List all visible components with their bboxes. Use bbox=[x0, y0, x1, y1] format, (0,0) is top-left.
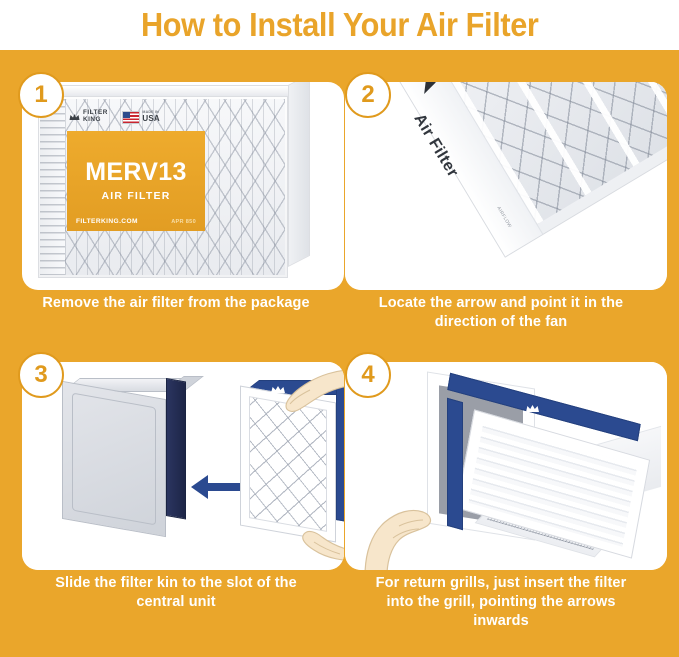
step-caption-1-text: Remove the air filter from the package bbox=[42, 295, 309, 311]
hand-inserting-icon bbox=[363, 482, 483, 570]
step-caption-4-line-2: into the grill, pointing the arrows bbox=[345, 593, 657, 612]
country-label: USA bbox=[142, 115, 160, 123]
hand-upper-icon bbox=[266, 368, 344, 426]
step-caption-3-line-1: Slide the filter kin to the slot of the bbox=[20, 574, 332, 593]
us-flag-icon bbox=[122, 111, 140, 124]
frame-sublabel: AIRFLOW bbox=[496, 206, 513, 229]
filter-king-logo: FILTER KING bbox=[69, 110, 108, 123]
step-panel-2: Air Filter AIRFLOW 2 Locate the arrow an… bbox=[345, 72, 679, 354]
central-unit-housing bbox=[62, 378, 182, 528]
box-right-face bbox=[288, 82, 310, 267]
grill-louvers bbox=[468, 421, 637, 547]
filter-king-mark-icon bbox=[525, 404, 540, 413]
step-caption-3: Slide the filter kin to the slot of the … bbox=[20, 574, 332, 612]
step-caption-4-line-1: For return grills, just insert the filte… bbox=[345, 574, 657, 593]
product-box-illustration: FILTER KING MADE IN bbox=[22, 82, 344, 290]
merv-rating: MERV13 bbox=[85, 160, 186, 185]
infographic-page: How to Install Your Air Filter bbox=[0, 0, 679, 657]
filter-frame: Air Filter AIRFLOW bbox=[367, 82, 667, 258]
return-grill-illustration bbox=[345, 362, 667, 570]
step-caption-1: Remove the air filter from the package bbox=[20, 294, 332, 313]
step-3-image-card bbox=[22, 362, 344, 570]
product-type-label: AIR FILTER bbox=[102, 190, 171, 202]
step-badge-1: 1 bbox=[18, 72, 64, 118]
steps-board: FILTER KING MADE IN bbox=[0, 50, 679, 657]
step-caption-3-line-2: central unit bbox=[20, 593, 332, 612]
crown-icon bbox=[69, 113, 80, 122]
frame-label: Air Filter bbox=[410, 111, 487, 223]
step-caption-2-line-2: direction of the fan bbox=[345, 313, 657, 332]
made-in-usa-badge: MADE IN USA bbox=[122, 111, 160, 124]
step-panel-1: FILTER KING MADE IN bbox=[10, 72, 344, 354]
step-badge-2: 2 bbox=[345, 72, 391, 118]
step-caption-2-line-1: Locate the arrow and point it in the bbox=[345, 294, 657, 313]
hand-lower-icon bbox=[284, 512, 344, 562]
brand-line-2: KING bbox=[83, 117, 108, 124]
step-panel-3: 3 Slide the filter kin to the slot of th… bbox=[10, 352, 344, 634]
step-badge-4: 4 bbox=[345, 352, 391, 398]
product-code-label: APR 850 bbox=[171, 219, 196, 225]
box-front-face: FILTER KING MADE IN bbox=[38, 96, 288, 278]
step-panel-4: 4 For return grills, just insert the fil… bbox=[345, 352, 679, 634]
step-badge-3: 3 bbox=[18, 352, 64, 398]
step-4-image-card bbox=[345, 362, 667, 570]
slide-filter-illustration bbox=[22, 362, 344, 570]
pleat-edge-texture bbox=[40, 99, 65, 275]
step-1-image-card: FILTER KING MADE IN bbox=[22, 82, 344, 290]
step-caption-4: For return grills, just insert the filte… bbox=[345, 574, 657, 631]
airflow-arrow-icon bbox=[415, 82, 441, 98]
page-title: How to Install Your Air Filter bbox=[141, 6, 539, 44]
filter-corner-photo: Air Filter AIRFLOW bbox=[345, 82, 667, 290]
filter-king-mark-icon bbox=[270, 385, 286, 394]
step-2-image-card: Air Filter AIRFLOW bbox=[345, 82, 667, 290]
merv-label: MERV13 AIR FILTER FILTERKING.COM APR 850 bbox=[67, 131, 205, 231]
grill-door bbox=[465, 432, 665, 562]
unit-front-face bbox=[62, 381, 166, 537]
brand-row: FILTER KING MADE IN bbox=[69, 107, 209, 127]
title-bar: How to Install Your Air Filter bbox=[0, 0, 679, 50]
unit-slot-opening bbox=[166, 378, 186, 520]
website-label: FILTERKING.COM bbox=[76, 218, 138, 225]
step-caption-2: Locate the arrow and point it in the dir… bbox=[345, 294, 657, 332]
step-caption-4-line-3: inwards bbox=[345, 612, 657, 631]
direction-arrow-icon bbox=[190, 474, 240, 500]
